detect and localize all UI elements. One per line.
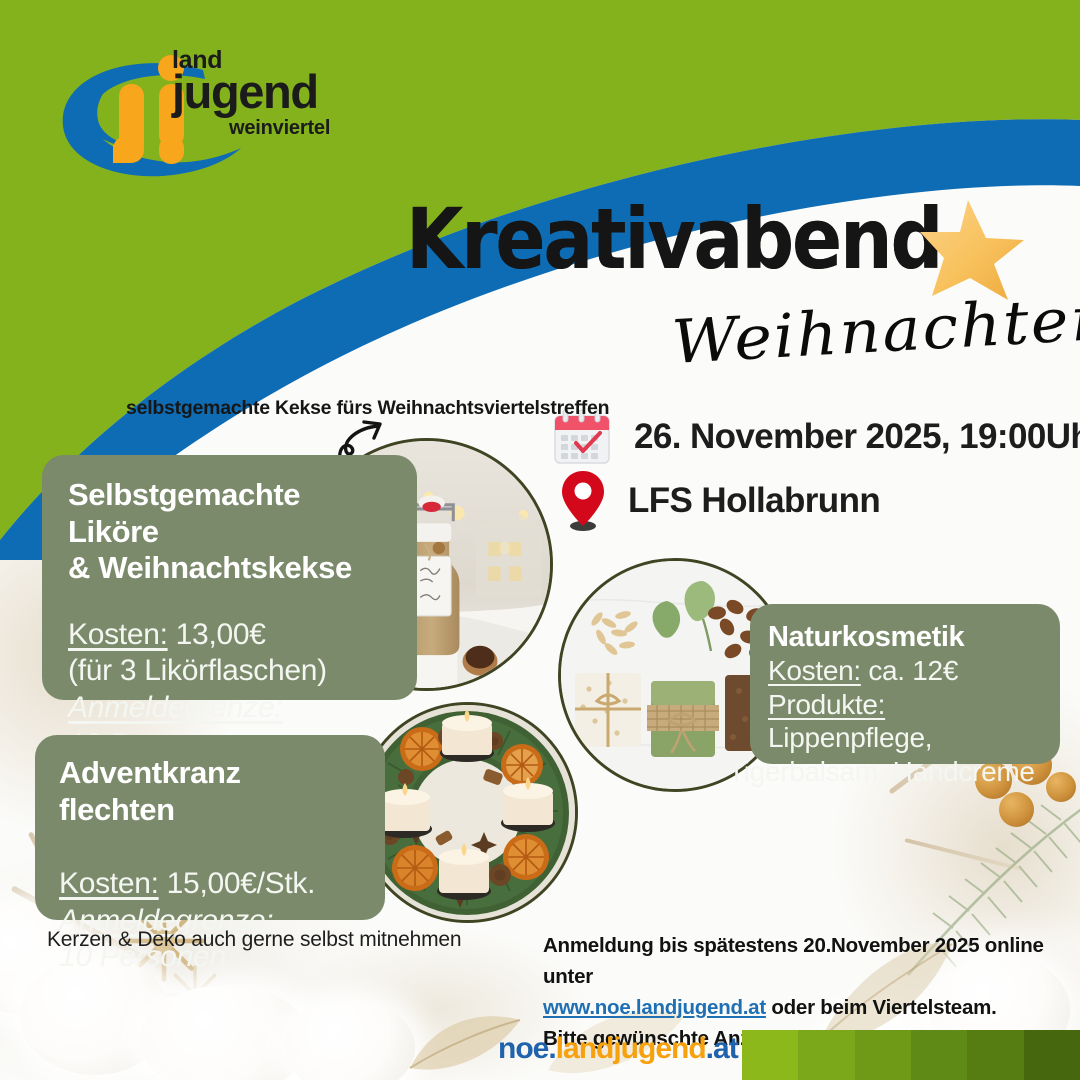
poster-canvas: land jugend weinviertel Kreativabend Wei…: [0, 0, 1080, 1080]
star-icon: [916, 196, 1028, 304]
card-naturkosmetik-cost-value: ca. 12€: [861, 655, 958, 686]
card-likoer-cost: Kosten: 13,00€: [68, 617, 391, 654]
logo-line-jugend: jugend: [172, 68, 318, 115]
card-likoer-title-line2: & Weihnachtskekse: [68, 550, 352, 585]
white-blossom: [140, 985, 310, 1080]
card-naturkosmetik-products: Produkte: Lippenpflege,: [768, 688, 1044, 755]
footer-bar-4: [911, 1030, 967, 1080]
card-adventkranz[interactable]: Adventkranz flechten Kosten: 15,00€/Stk.…: [35, 735, 385, 920]
card-adventkranz-cost: Kosten: 15,00€/Stk.: [59, 866, 361, 903]
footer-logo-part1: noe.: [498, 1032, 556, 1065]
card-adventkranz-title: Adventkranz flechten: [59, 755, 361, 828]
footer-bar-5: [967, 1030, 1023, 1080]
event-location-text: LFS Hollabrunn: [628, 481, 880, 521]
golden-berry: [999, 792, 1034, 827]
dried-stem: [905, 838, 1022, 871]
card-naturkosmetik[interactable]: Naturkosmetik Kosten: ca. 12€ Produkte: …: [750, 604, 1060, 764]
footer-logo-part2: landjugend: [556, 1032, 706, 1065]
card-likoer[interactable]: Selbstgemachte Liköre & Weihnachtskekse …: [42, 455, 417, 700]
logo-line-weinviertel: weinviertel: [229, 118, 330, 138]
card-likoer-title-line1: Selbstgemachte Liköre: [68, 477, 300, 549]
card-naturkosmetik-cost-label: Kosten:: [768, 655, 861, 686]
registration-line2: www.noe.landjugend.at oder beim Viertels…: [543, 992, 1063, 1023]
golden-berry: [1046, 772, 1076, 802]
card-likoer-cost-label: Kosten:: [68, 618, 168, 651]
card-likoer-limit-label: Anmeldegrenze:: [68, 690, 391, 727]
footer-bar-2: [798, 1030, 854, 1080]
page-title: Kreativabend: [406, 198, 941, 282]
cookies-caption: selbstgemachte Kekse fürs Weihnachtsvier…: [126, 397, 609, 420]
footer-website-logo[interactable]: noe.landjugend.at: [498, 1032, 738, 1066]
card-adventkranz-cost-label: Kosten:: [59, 867, 159, 900]
footer-color-bars: [742, 1030, 1080, 1080]
footer-bar-1: [742, 1030, 798, 1080]
card-naturkosmetik-products-value: Lippenpflege,: [768, 722, 932, 753]
event-date-text: 26. November 2025, 19:00Uhr: [634, 417, 1080, 457]
location-pin-icon: [560, 470, 606, 532]
footer-bar-6: [1024, 1030, 1080, 1080]
registration-link[interactable]: www.noe.landjugend.at: [543, 996, 766, 1019]
card-naturkosmetik-cost: Kosten: ca. 12€: [768, 654, 1044, 688]
event-location-row: LFS Hollabrunn: [560, 470, 880, 532]
footer-logo-part3: .at: [706, 1032, 738, 1065]
card-naturkosmetik-products-label: Produkte:: [768, 689, 885, 720]
card-naturkosmetik-title: Naturkosmetik: [768, 620, 1044, 654]
deko-note: Kerzen & Deko auch gerne selbst mitnehme…: [47, 928, 461, 952]
card-likoer-cost-note: (für 3 Likörflaschen): [68, 653, 391, 690]
registration-line2-rest: oder beim Viertelsteam.: [766, 996, 997, 1019]
landjugend-logo-text: land jugend weinviertel: [172, 48, 352, 168]
footer-bar-3: [855, 1030, 911, 1080]
card-naturkosmetik-products-line2: Tigerbalsam, Handcreme: [728, 755, 1035, 789]
card-likoer-title: Selbstgemachte Liköre & Weihnachtskekse: [68, 477, 391, 587]
white-blossom: [285, 1000, 415, 1080]
card-likoer-cost-value: 13,00€: [168, 618, 266, 651]
card-adventkranz-cost-value: 15,00€/Stk.: [159, 867, 316, 900]
event-date-row: 26. November 2025, 19:00Uhr: [552, 408, 1080, 466]
registration-line1: Anmeldung bis spätestens 20.November 202…: [543, 930, 1063, 992]
wreath-photo-art: [360, 705, 575, 920]
